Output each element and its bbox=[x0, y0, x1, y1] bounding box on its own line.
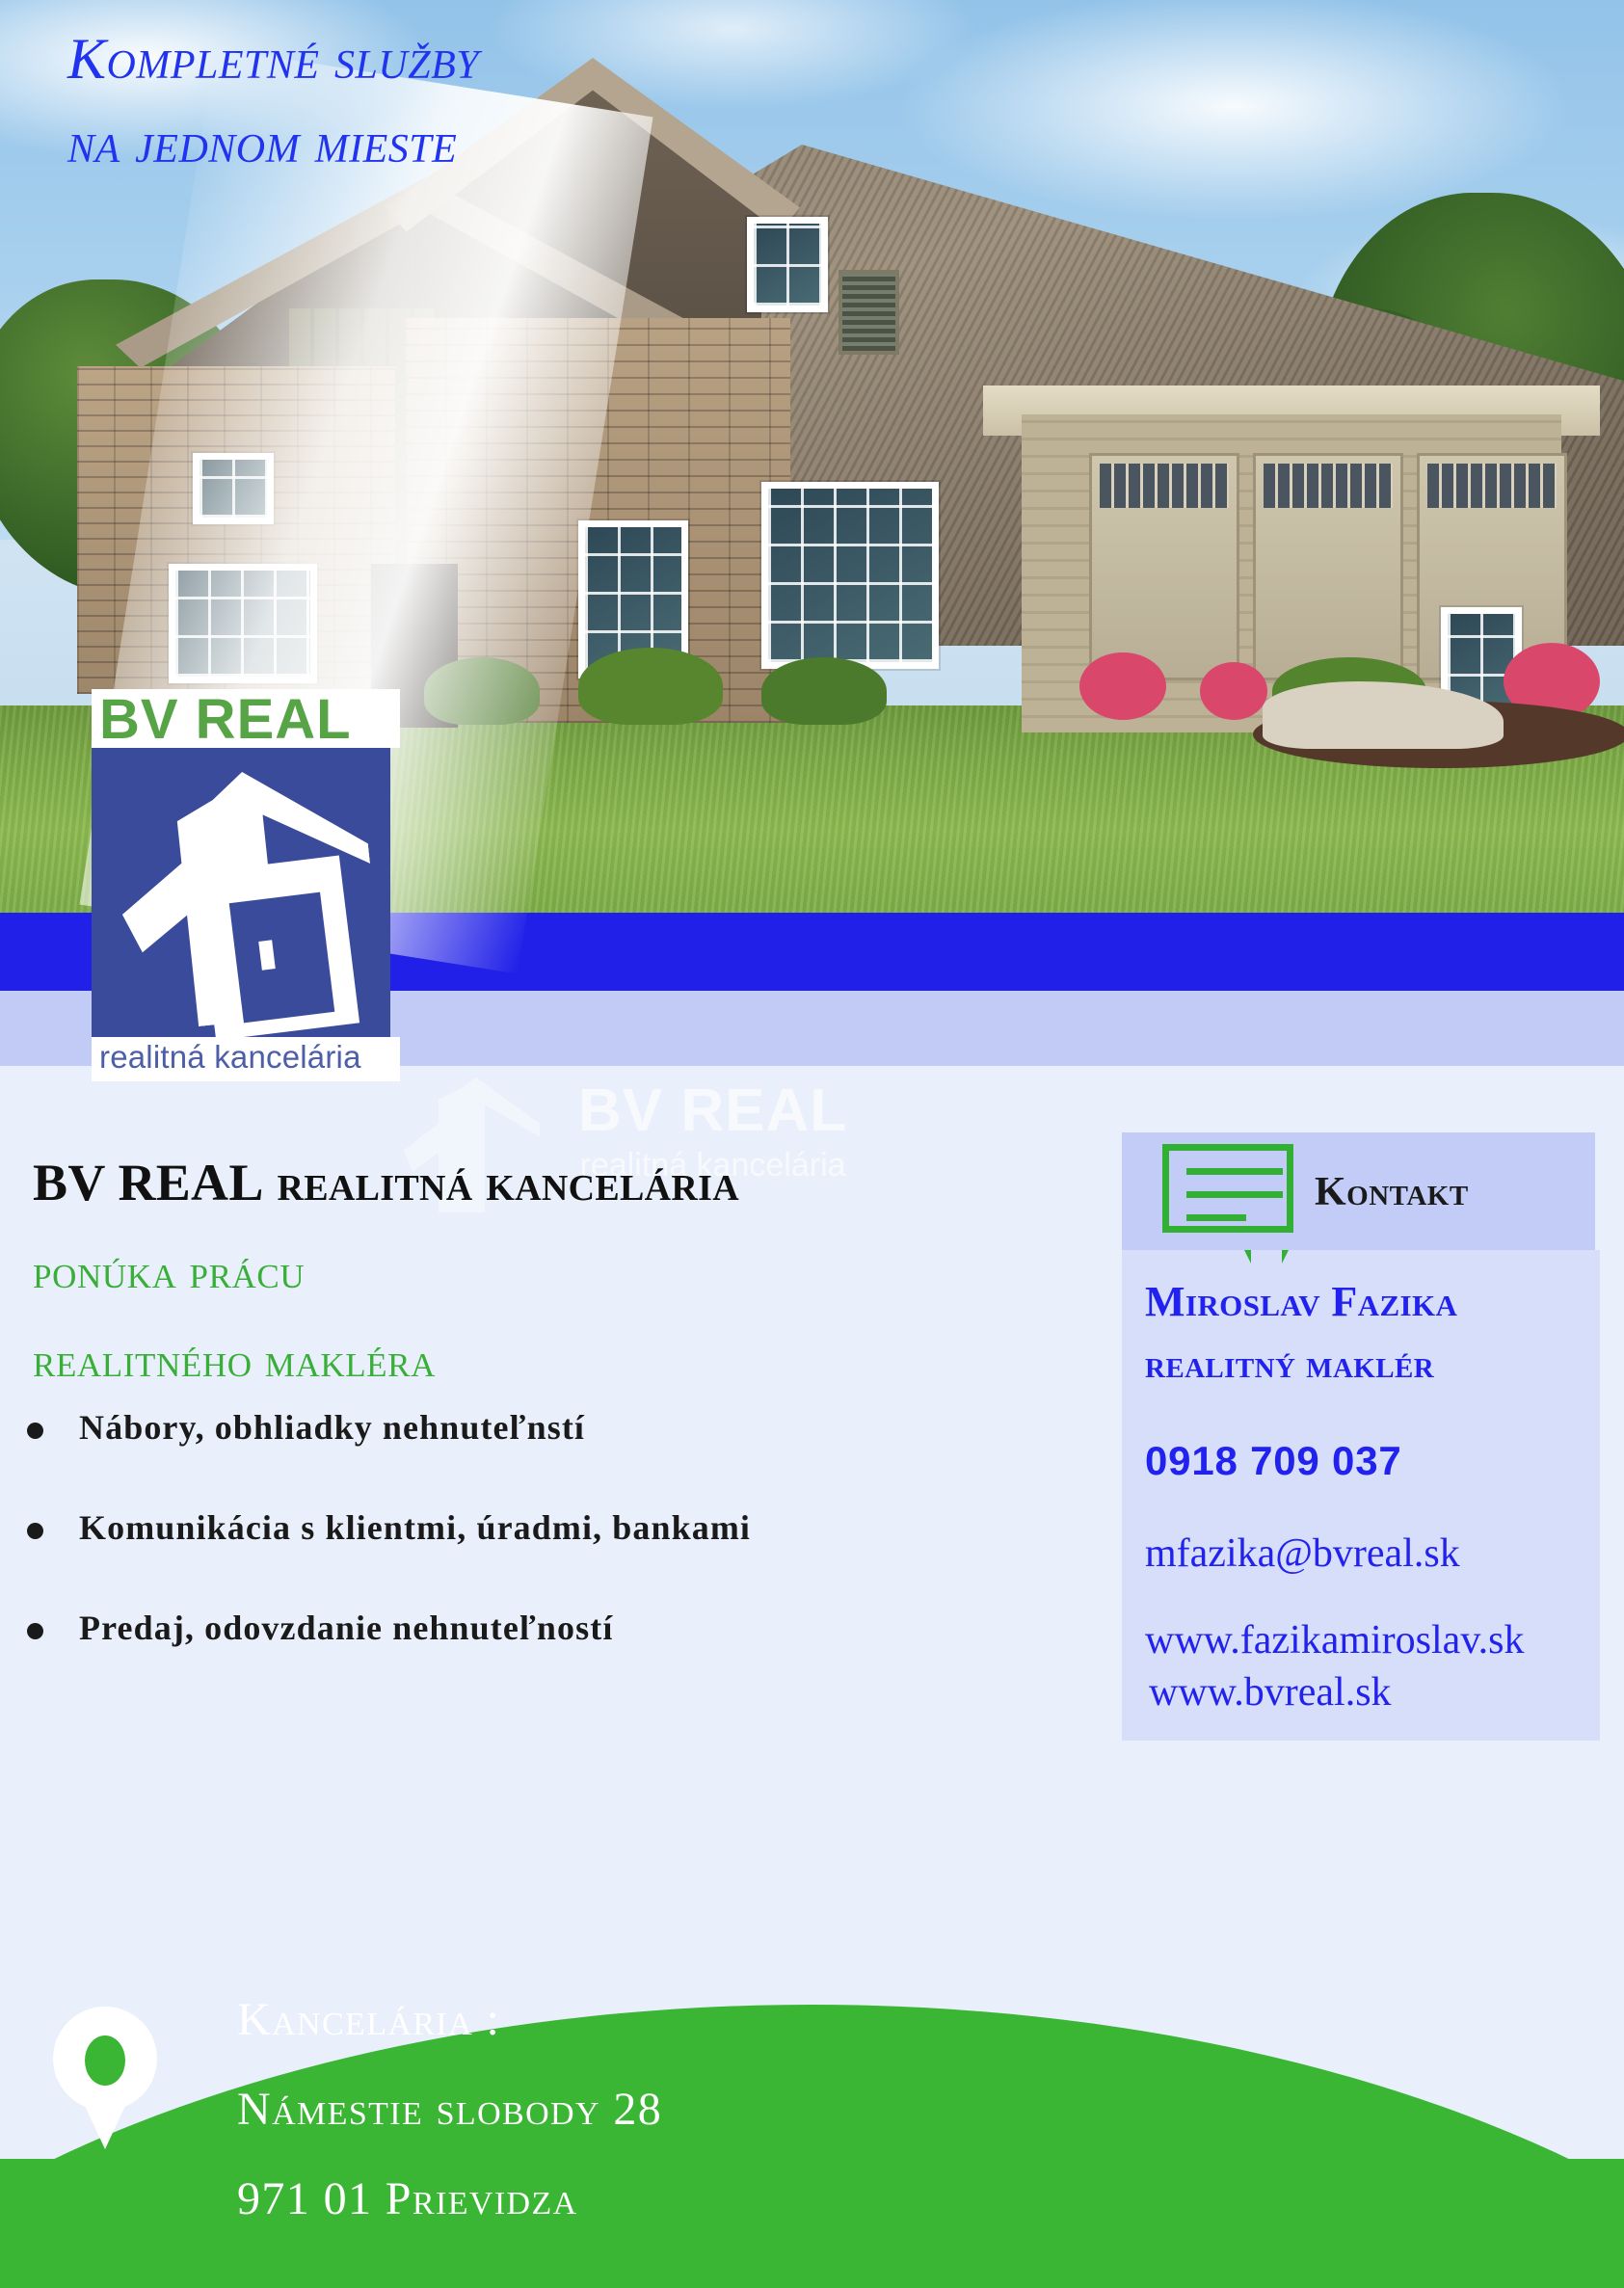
office-city: 971 01 Prievidza bbox=[237, 2172, 662, 2225]
bubble-line bbox=[1186, 1214, 1246, 1221]
office-street: Námestie slobody 28 bbox=[237, 2083, 662, 2136]
agent-email[interactable]: mfazika@bvreal.sk bbox=[1145, 1530, 1600, 1577]
bv-real-logo[interactable]: BV REAL realitná kancelária bbox=[92, 689, 400, 1081]
flowering-bush bbox=[1079, 652, 1166, 720]
agent-website[interactable]: www.fazikamiroslav.sk bbox=[1145, 1617, 1600, 1663]
contact-card-header: Kontakt bbox=[1122, 1132, 1595, 1250]
logo-wordmark: BV REAL bbox=[99, 691, 392, 748]
office-label: Kancelária : bbox=[237, 1993, 662, 2046]
headline-line-2: na jednom mieste bbox=[67, 101, 819, 185]
window bbox=[169, 564, 317, 683]
agent-phone[interactable]: 0918 709 037 bbox=[1145, 1438, 1600, 1484]
speech-bubble-icon bbox=[1162, 1144, 1293, 1233]
offer-line-1: ponúka prácu bbox=[33, 1243, 305, 1299]
page-title-brand: BV REAL bbox=[33, 1154, 264, 1211]
headline: Kompletné služby na jednom mieste bbox=[67, 17, 819, 185]
logo-house-icon bbox=[92, 748, 390, 1037]
logo-wordmark-bar: BV REAL bbox=[92, 689, 400, 748]
list-item-label: Predaj, odovzdanie nehnuteľností bbox=[79, 1608, 613, 1648]
list-item-label: Nábory, obhliadky nehnuteľnstí bbox=[79, 1407, 585, 1448]
shrub bbox=[761, 657, 887, 725]
agent-role: realitný maklér bbox=[1145, 1342, 1600, 1388]
duties-list: Nábory, obhliadky nehnuteľnstí Komunikác… bbox=[17, 1407, 1106, 1708]
bubble-line bbox=[1186, 1191, 1283, 1198]
list-item: Predaj, odovzdanie nehnuteľností bbox=[17, 1608, 1106, 1648]
house-door-shape bbox=[229, 892, 335, 1024]
window bbox=[761, 482, 939, 669]
headline-line-1: Kompletné služby bbox=[67, 17, 819, 101]
contact-heading: Kontakt bbox=[1315, 1169, 1469, 1215]
logo-subtitle: realitná kancelária bbox=[92, 1037, 400, 1081]
bullet-dot-icon bbox=[27, 1623, 43, 1639]
list-item: Komunikácia s klientmi, úradmi, bankami bbox=[17, 1507, 1106, 1548]
window bbox=[193, 453, 274, 524]
garage-door bbox=[1089, 453, 1239, 680]
garage-door bbox=[1253, 453, 1403, 680]
company-website[interactable]: www.bvreal.sk bbox=[1149, 1669, 1600, 1716]
bullet-dot-icon bbox=[27, 1523, 43, 1539]
page-title-rest: realitná kancelária bbox=[264, 1154, 739, 1211]
pin-hole bbox=[85, 2035, 125, 2086]
list-item-label: Komunikácia s klientmi, úradmi, bankami bbox=[79, 1507, 751, 1548]
shrub bbox=[424, 657, 540, 725]
list-item: Nábory, obhliadky nehnuteľnstí bbox=[17, 1407, 1106, 1448]
real-estate-job-flyer: Kompletné služby na jednom mieste BV REA… bbox=[0, 0, 1624, 2288]
contact-card: Kontakt Miroslav Fazika realitný maklér … bbox=[1122, 1132, 1600, 1741]
bubble-line bbox=[1186, 1168, 1283, 1175]
location-pin-icon bbox=[53, 2007, 157, 2149]
page-title: BV REAL realitná kancelária bbox=[33, 1153, 739, 1212]
shrub bbox=[578, 648, 723, 725]
offer-line-2: realitného makléra bbox=[33, 1332, 436, 1388]
bullet-dot-icon bbox=[27, 1423, 43, 1439]
gable-vent bbox=[839, 270, 899, 355]
contact-card-body: Miroslav Fazika realitný maklér 0918 709… bbox=[1122, 1250, 1600, 1741]
flowering-bush bbox=[1200, 662, 1267, 720]
window bbox=[747, 217, 828, 312]
office-address: Kancelária : Námestie slobody 28 971 01 … bbox=[237, 1993, 662, 2225]
agent-name: Miroslav Fazika bbox=[1145, 1277, 1600, 1326]
